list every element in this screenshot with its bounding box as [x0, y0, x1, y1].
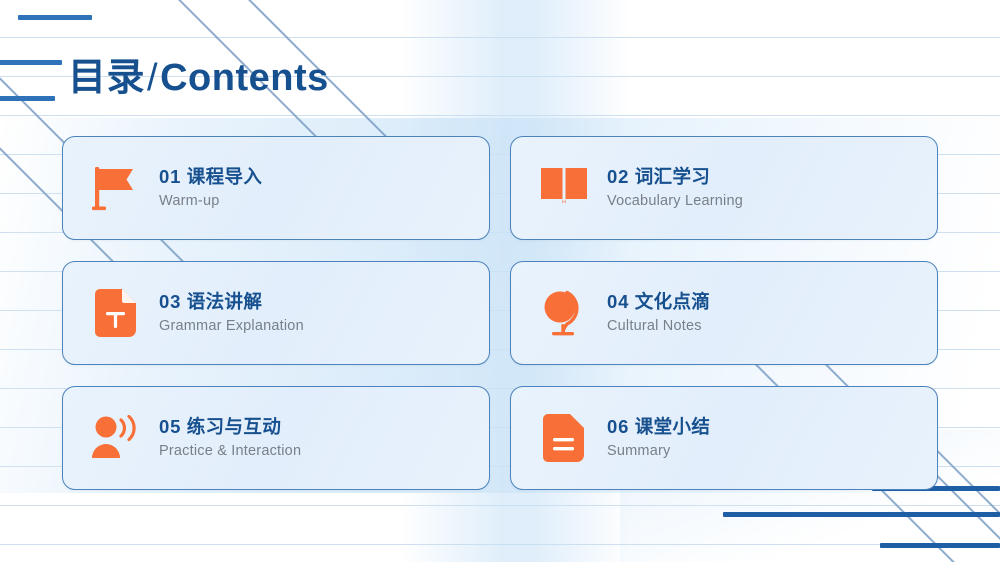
contents-item-06[interactable]: 06 课堂小结 Summary — [510, 386, 938, 490]
contents-item-title-cn: 课程导入 — [187, 166, 263, 187]
contents-item-text: 06 课堂小结 Summary — [607, 418, 710, 458]
contents-item-subtitle: Summary — [607, 444, 710, 459]
contents-item-03[interactable]: 03 语法讲解 Grammar Explanation — [62, 261, 490, 365]
contents-item-02[interactable]: 02 词汇学习 Vocabulary Learning — [510, 136, 938, 240]
contents-item-title: 06 课堂小结 — [607, 418, 710, 437]
contents-item-text: 02 词汇学习 Vocabulary Learning — [607, 168, 743, 208]
accent-bar-bottom-right-2 — [723, 512, 1000, 517]
document-text-icon — [89, 286, 143, 340]
accent-bar-top-left — [18, 15, 92, 20]
contents-item-05[interactable]: 05 练习与互动 Practice & Interaction — [62, 386, 490, 490]
contents-item-subtitle: Vocabulary Learning — [607, 194, 743, 209]
contents-item-subtitle: Grammar Explanation — [159, 319, 304, 334]
accent-bar-bottom-right-3 — [880, 543, 1000, 548]
contents-item-title: 05 练习与互动 — [159, 418, 301, 437]
contents-item-number: 01 — [159, 166, 181, 187]
contents-item-title: 02 词汇学习 — [607, 168, 743, 187]
contents-item-title-cn: 词汇学习 — [635, 166, 711, 187]
contents-item-number: 04 — [607, 291, 629, 312]
person-speaking-icon — [89, 411, 143, 465]
contents-item-04[interactable]: 04 文化点滴 Cultural Notes — [510, 261, 938, 365]
contents-item-subtitle: Practice & Interaction — [159, 444, 301, 459]
contents-item-01[interactable]: 01 课程导入 Warm-up — [62, 136, 490, 240]
contents-item-title: 01 课程导入 — [159, 168, 262, 187]
contents-item-subtitle: Cultural Notes — [607, 319, 710, 334]
accent-bar-lower-left — [0, 96, 55, 101]
contents-item-title: 03 语法讲解 — [159, 293, 304, 312]
contents-item-title-cn: 练习与互动 — [187, 416, 282, 437]
contents-item-title-cn: 文化点滴 — [635, 291, 711, 312]
page-title-separator: / — [145, 57, 160, 99]
accent-bar-mid-left — [0, 60, 62, 65]
contents-item-subtitle: Warm-up — [159, 194, 262, 209]
globe-icon — [537, 286, 591, 340]
contents-item-title: 04 文化点滴 — [607, 293, 710, 312]
contents-item-text: 03 语法讲解 Grammar Explanation — [159, 293, 304, 333]
open-book-icon — [537, 161, 591, 215]
slide-canvas: 目录/Contents 01 课程导入 Warm-up — [0, 0, 1000, 562]
document-lines-icon — [537, 411, 591, 465]
page-title-cn: 目录 — [68, 57, 145, 99]
contents-item-text: 05 练习与互动 Practice & Interaction — [159, 418, 301, 458]
page-title: 目录/Contents — [68, 46, 329, 101]
page-title-en: Contents — [160, 57, 329, 99]
contents-item-number: 02 — [607, 166, 629, 187]
contents-item-text: 04 文化点滴 Cultural Notes — [607, 293, 710, 333]
flag-icon — [89, 161, 143, 215]
contents-grid: 01 课程导入 Warm-up 02 词汇学习 Vocabulary Learn… — [62, 136, 938, 490]
contents-item-number: 05 — [159, 416, 181, 437]
contents-item-number: 06 — [607, 416, 629, 437]
contents-item-text: 01 课程导入 Warm-up — [159, 168, 262, 208]
contents-item-title-cn: 语法讲解 — [187, 291, 263, 312]
contents-item-number: 03 — [159, 291, 181, 312]
contents-item-title-cn: 课堂小结 — [635, 416, 711, 437]
